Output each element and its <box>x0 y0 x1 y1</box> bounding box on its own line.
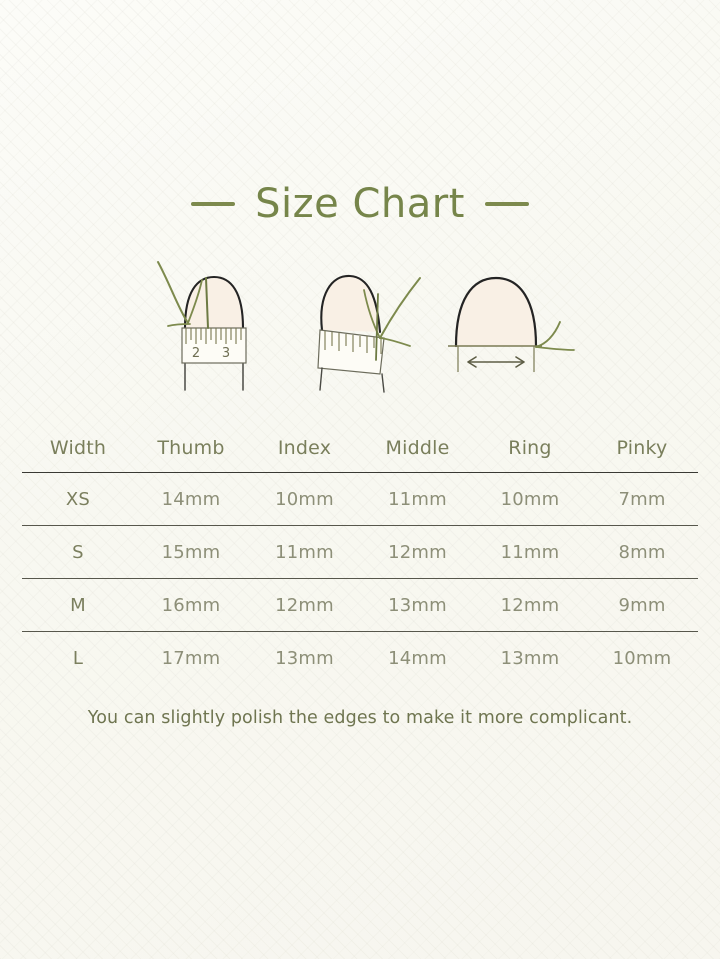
cell-xs-ring: 10mm <box>474 473 586 526</box>
table-row: XS 14mm 10mm 11mm 10mm 7mm <box>22 473 698 526</box>
size-chart-table: Width Thumb Index Middle Ring Pinky XS 1… <box>22 424 698 684</box>
cell-size-xs: XS <box>22 473 134 526</box>
illustration-row: 2 3 <box>0 250 720 400</box>
cell-size-l: L <box>22 632 134 685</box>
cell-m-index: 12mm <box>248 579 361 632</box>
cell-xs-middle: 11mm <box>361 473 474 526</box>
cell-xs-index: 10mm <box>248 473 361 526</box>
table-header-row: Width Thumb Index Middle Ring Pinky <box>22 424 698 473</box>
svg-text:2: 2 <box>192 346 200 361</box>
cell-l-middle: 14mm <box>361 632 474 685</box>
table-row: S 15mm 11mm 12mm 11mm 8mm <box>22 526 698 579</box>
page-title: Size Chart <box>0 182 720 226</box>
nail-width-arrow-icon <box>434 250 594 400</box>
column-header-thumb: Thumb <box>134 424 248 473</box>
column-header-index: Index <box>248 424 361 473</box>
column-header-width: Width <box>22 424 134 473</box>
column-header-pinky: Pinky <box>586 424 698 473</box>
table-body: XS 14mm 10mm 11mm 10mm 7mm S 15mm 11mm 1… <box>22 473 698 685</box>
column-header-middle: Middle <box>361 424 474 473</box>
title-text: Size Chart <box>255 182 465 226</box>
cell-s-index: 11mm <box>248 526 361 579</box>
cell-l-thumb: 17mm <box>134 632 248 685</box>
title-dash-right-icon <box>485 202 529 206</box>
cell-size-m: M <box>22 579 134 632</box>
footer-note: You can slightly polish the edges to mak… <box>0 708 720 728</box>
illustration-measure-nail-with-ruler: 2 3 <box>140 250 300 400</box>
cell-s-ring: 11mm <box>474 526 586 579</box>
cell-xs-pinky: 7mm <box>586 473 698 526</box>
cell-s-pinky: 8mm <box>586 526 698 579</box>
size-chart-page: Size Chart <box>0 0 720 959</box>
cell-m-thumb: 16mm <box>134 579 248 632</box>
cell-m-middle: 13mm <box>361 579 474 632</box>
cell-m-ring: 12mm <box>474 579 586 632</box>
cell-s-thumb: 15mm <box>134 526 248 579</box>
cell-l-pinky: 10mm <box>586 632 698 685</box>
column-header-ring: Ring <box>474 424 586 473</box>
illustration-measure-nail-tilted-ruler <box>292 250 452 400</box>
finger-ruler-icon: 2 3 <box>140 250 300 400</box>
table-header: Width Thumb Index Middle Ring Pinky <box>22 424 698 473</box>
cell-m-pinky: 9mm <box>586 579 698 632</box>
cell-l-index: 13mm <box>248 632 361 685</box>
cell-size-s: S <box>22 526 134 579</box>
illustration-nail-width-arrow <box>434 250 594 400</box>
table-row: M 16mm 12mm 13mm 12mm 9mm <box>22 579 698 632</box>
finger-tilted-ruler-icon <box>292 250 452 400</box>
svg-text:3: 3 <box>222 346 230 361</box>
table-row: L 17mm 13mm 14mm 13mm 10mm <box>22 632 698 685</box>
title-dash-left-icon <box>191 202 235 206</box>
cell-l-ring: 13mm <box>474 632 586 685</box>
cell-s-middle: 12mm <box>361 526 474 579</box>
cell-xs-thumb: 14mm <box>134 473 248 526</box>
